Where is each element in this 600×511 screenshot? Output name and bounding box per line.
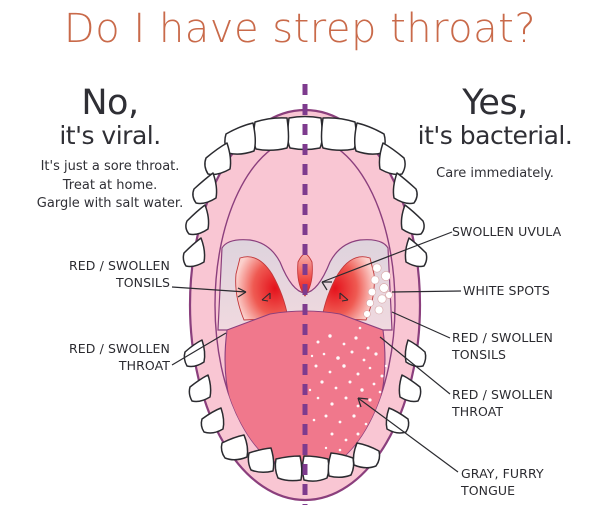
verdict-viral-line-3: Gargle with salt water.: [20, 195, 200, 214]
verdict-viral-line-1: It's just a sore throat.: [20, 158, 200, 177]
infographic-canvas: Do I have strep throat?: [0, 0, 600, 511]
verdict-viral-line-2: Treat at home.: [20, 177, 200, 196]
verdict-viral-subheading: it's viral.: [20, 122, 200, 151]
callout-right-tonsils: RED / SWOLLEN TONSILS: [452, 330, 598, 363]
verdict-bacterial: Yes, it's bacterial. Care immediately.: [400, 86, 590, 184]
callout-right-throat: RED / SWOLLEN THROAT: [452, 387, 598, 420]
callout-right-white-spots: WHITE SPOTS: [463, 283, 599, 300]
mouth-diagram: [0, 0, 600, 511]
verdict-viral: No, it's viral. It's just a sore throat.…: [20, 86, 200, 214]
callout-right-tongue: GRAY, FURRY TONGUE: [461, 466, 600, 499]
callout-left-throat: RED / SWOLLEN THROAT: [10, 341, 170, 374]
callout-left-tonsils: RED / SWOLLEN TONSILS: [10, 258, 170, 291]
callout-right-uvula: SWOLLEN UVULA: [452, 224, 598, 241]
verdict-bacterial-line-1: Care immediately.: [400, 165, 590, 184]
verdict-viral-heading: No,: [20, 86, 200, 121]
verdict-bacterial-subheading: it's bacterial.: [400, 122, 590, 151]
verdict-bacterial-heading: Yes,: [400, 86, 590, 121]
